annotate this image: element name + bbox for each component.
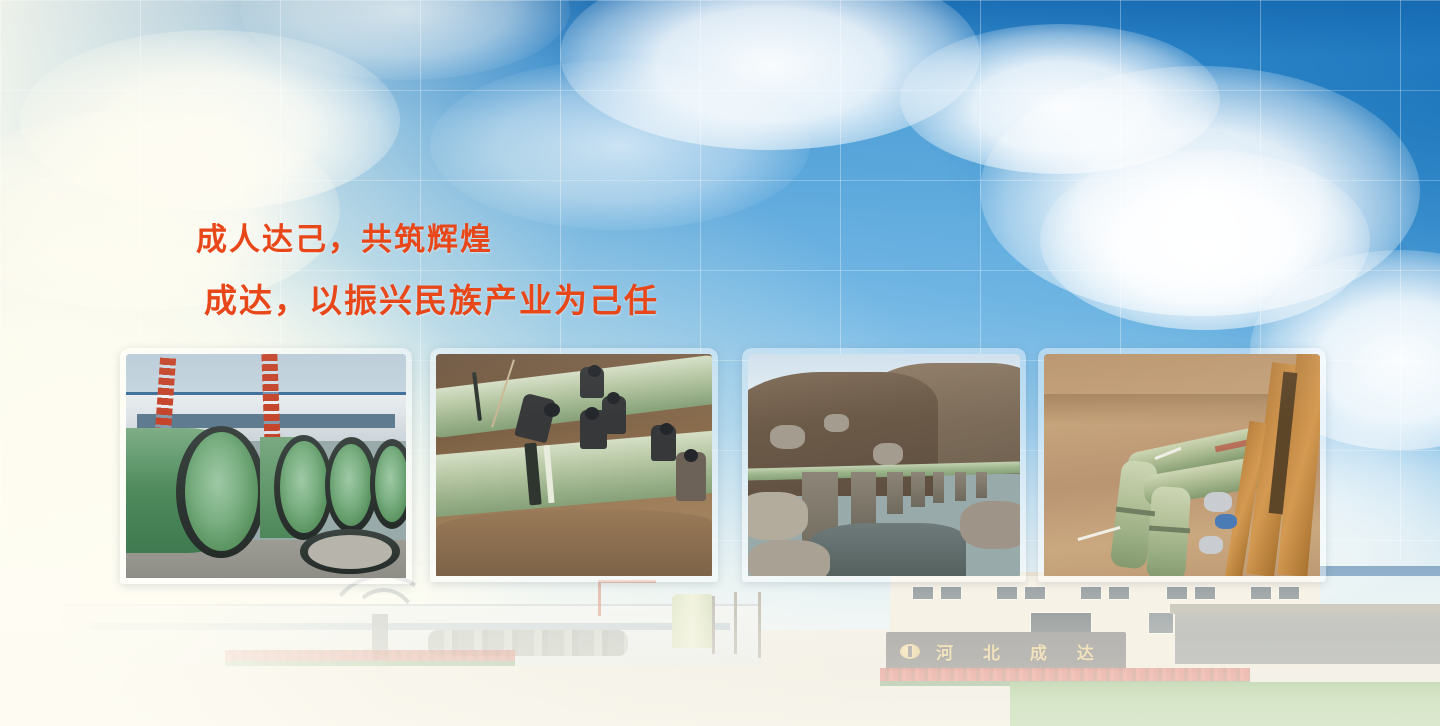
headline-line-1: 成人达己，共筑辉煌	[196, 225, 659, 256]
photo-pipes-yard[interactable]	[126, 354, 406, 578]
photo-4-veil	[1044, 354, 1320, 576]
photo-trench-install[interactable]	[436, 354, 712, 576]
photo-1-veil	[126, 354, 406, 578]
photo-mountain-pipeline[interactable]	[748, 354, 1020, 576]
banner-stage: 河 北 成 达 成人达己，共筑辉煌 成达，以振兴民族产业为己任	[0, 0, 1440, 726]
headline-line-2: 成达，以振兴民族产业为己任	[204, 284, 659, 317]
photo-2-veil	[436, 354, 712, 576]
photo-frame-2[interactable]	[430, 348, 718, 582]
photo-sand-excavation[interactable]	[1044, 354, 1320, 576]
photo-3-veil	[748, 354, 1020, 576]
photo-frame-3[interactable]	[742, 348, 1026, 582]
headline-block: 成人达己，共筑辉煌 成达，以振兴民族产业为己任	[196, 225, 659, 317]
photo-frame-1[interactable]	[120, 348, 412, 584]
photo-frame-4[interactable]	[1038, 348, 1326, 582]
